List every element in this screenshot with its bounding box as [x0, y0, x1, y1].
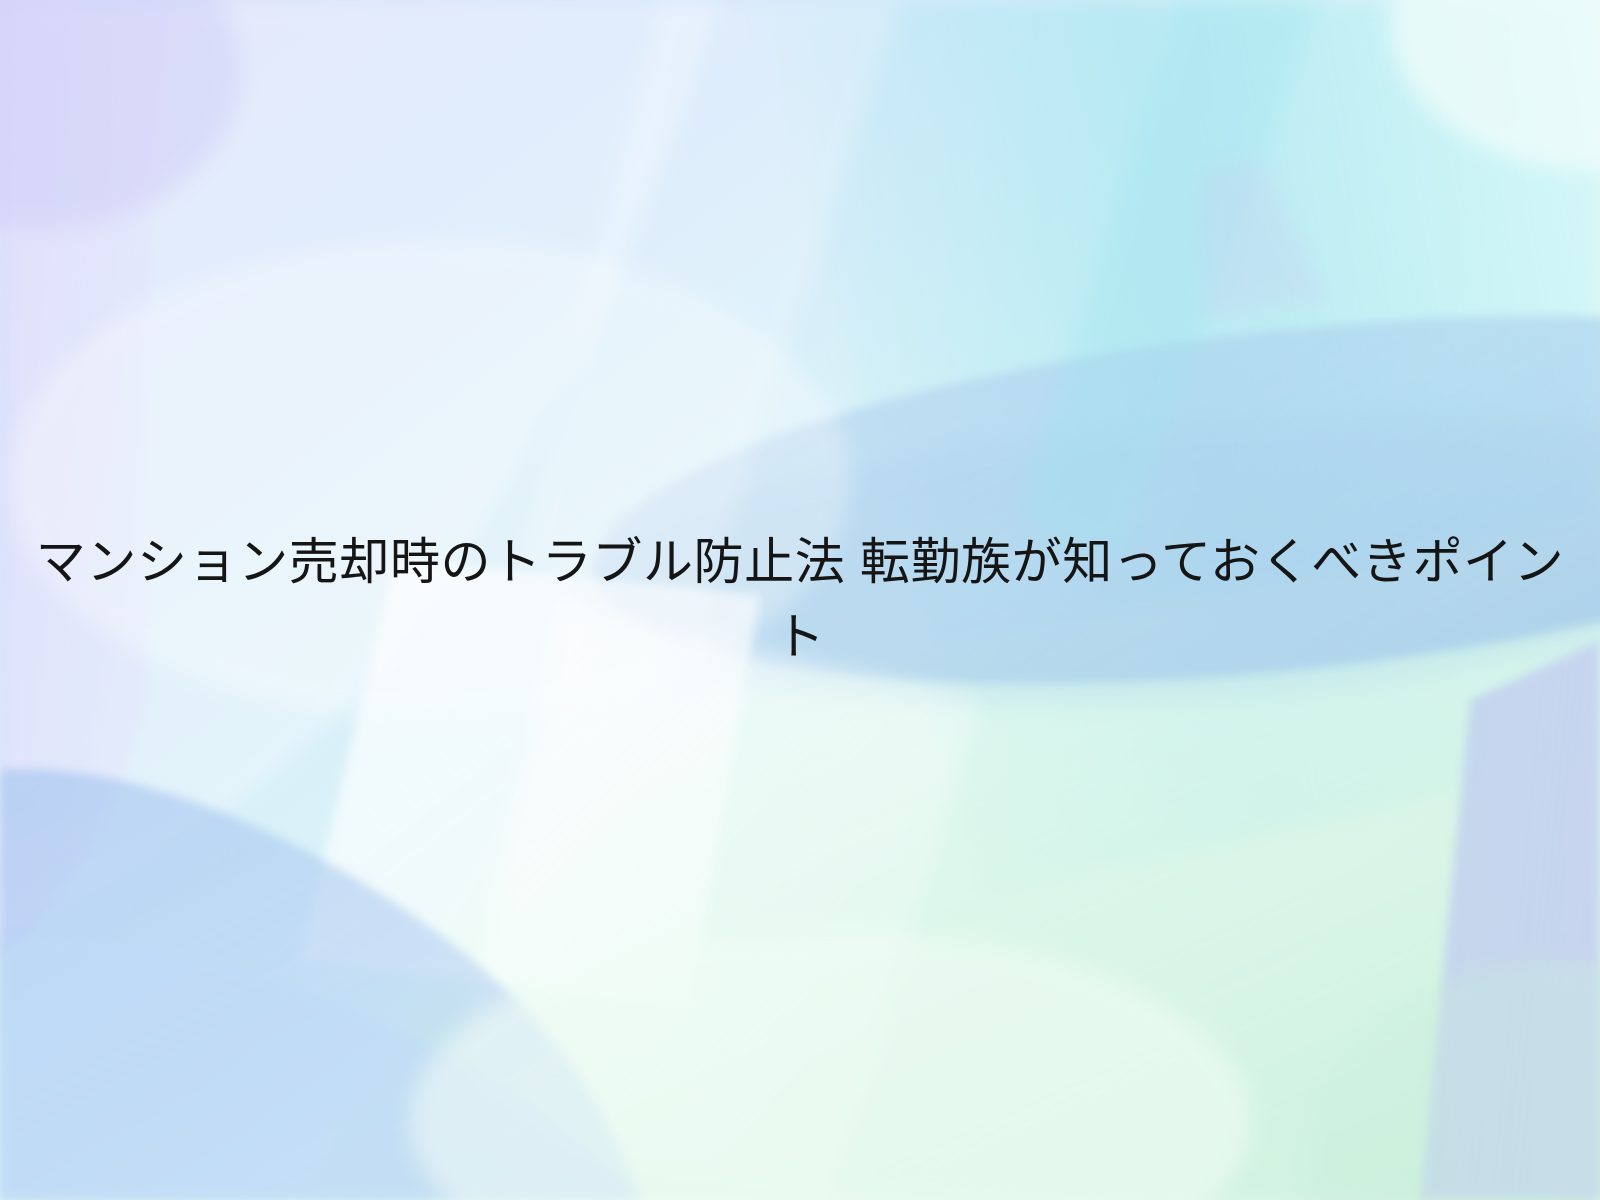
slide-title: マンション売却時のトラブル防止法 転勤族が知っておくべきポイント — [35, 525, 1565, 675]
title-slide: マンション売却時のトラブル防止法 転勤族が知っておくべきポイント — [0, 0, 1600, 1200]
title-block: マンション売却時のトラブル防止法 転勤族が知っておくべきポイント — [0, 0, 1600, 1200]
